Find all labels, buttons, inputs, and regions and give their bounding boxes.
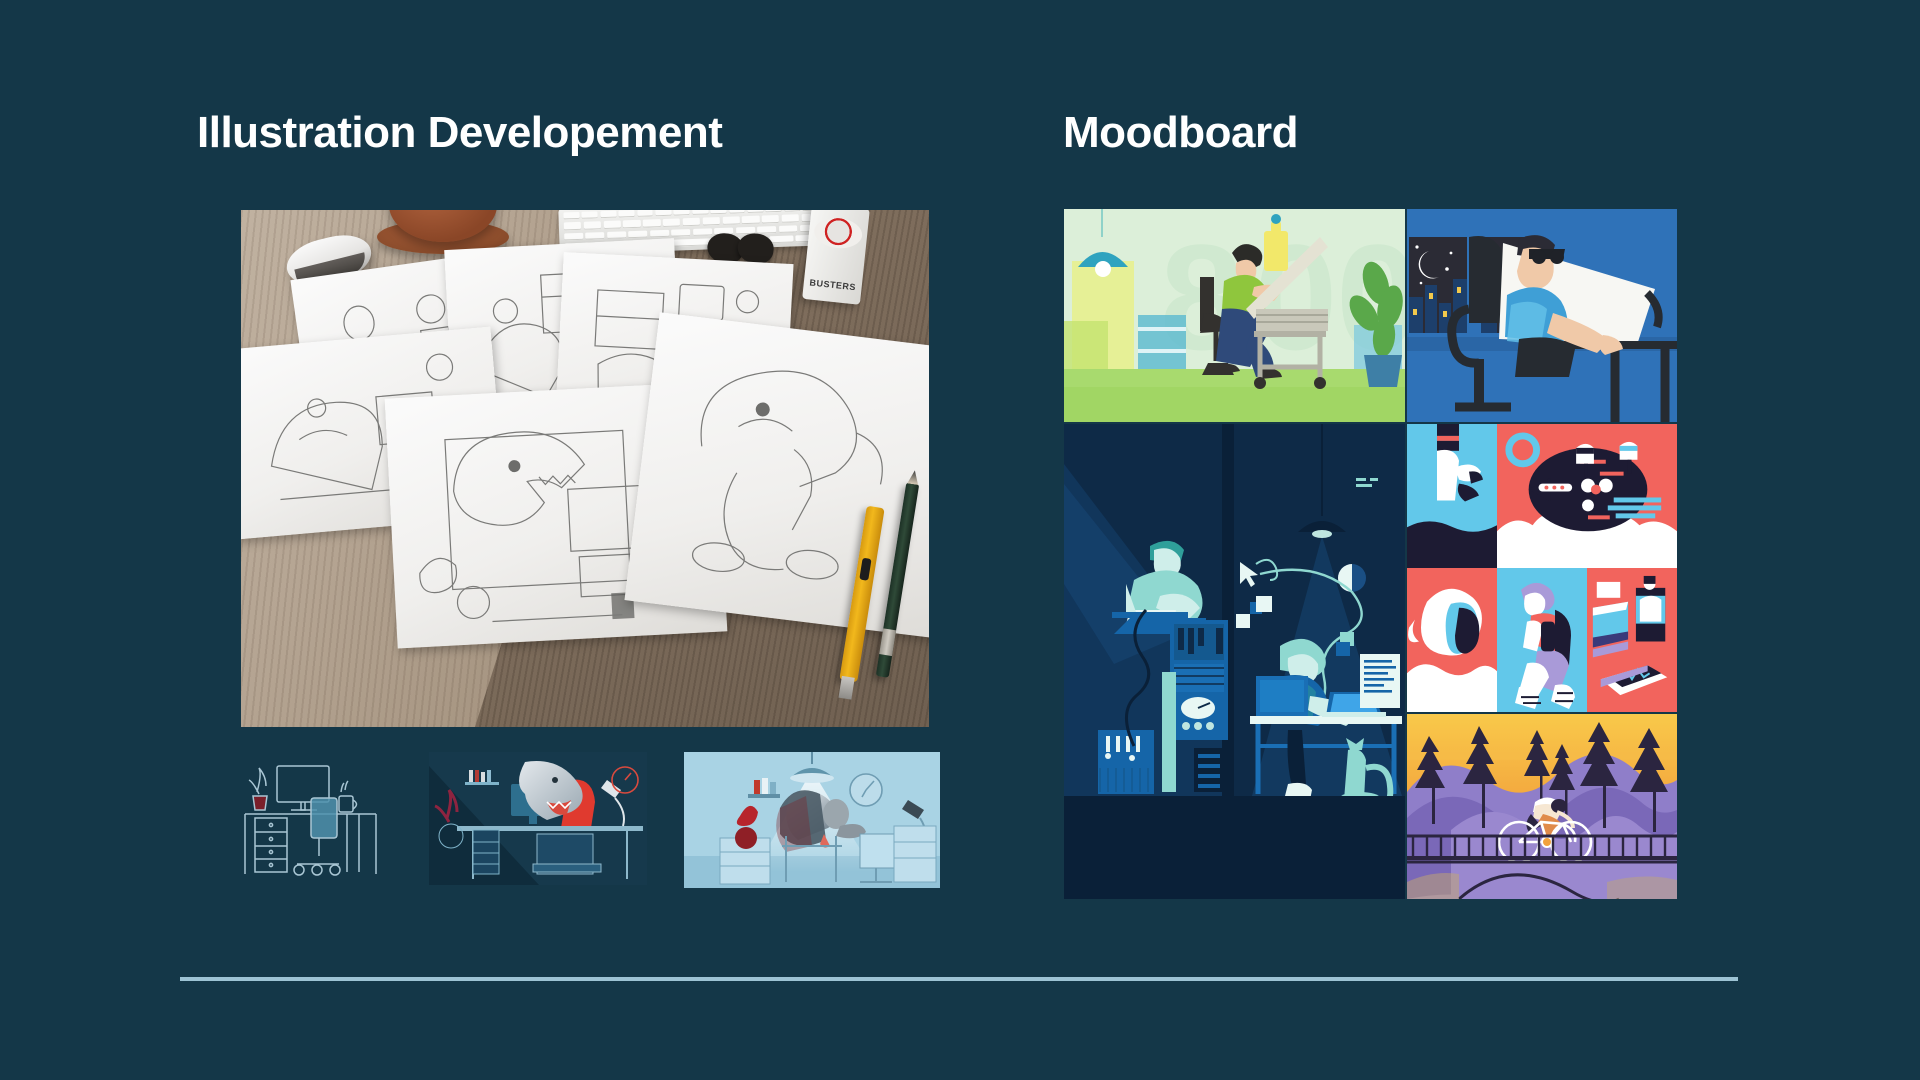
moodboard-cell-green-drafting-desk[interactable]: 800	[1063, 208, 1406, 423]
coral-panel-skater	[1497, 568, 1587, 712]
slide-canvas: Illustration Developement Moodboard	[0, 0, 1920, 1080]
moodboard-cell-purple-cyclist[interactable]	[1406, 713, 1678, 900]
coral-panel-diver	[1407, 424, 1497, 568]
thumbnail-line-art-desk[interactable]	[241, 752, 380, 882]
sketch-photo[interactable]: BUSTERS	[241, 210, 929, 727]
page-title-moodboard: Moodboard	[1063, 108, 1298, 158]
coral-panel-hair	[1407, 568, 1497, 712]
coral-panel-workstation	[1587, 568, 1677, 712]
moodboard-cell-blue-night-desk[interactable]	[1406, 208, 1678, 423]
soda-can: BUSTERS	[802, 210, 870, 305]
coral-panel-aerial	[1497, 424, 1677, 568]
moodboard-cell-coral-cyan-grid[interactable]	[1406, 423, 1678, 713]
bottom-divider	[180, 977, 1738, 981]
sketch-photo-content: BUSTERS	[241, 210, 929, 727]
moodboard-cell-dark-blue-workshop[interactable]	[1063, 423, 1406, 900]
sketch-paper-character	[624, 312, 929, 638]
thumbnail-shark-light-scene[interactable]	[684, 752, 940, 888]
moodboard-grid: 800	[1063, 208, 1678, 900]
thumbnail-shark-dark-scene[interactable]	[429, 752, 647, 885]
thumbnail-row	[241, 752, 940, 888]
page-title-illustration: Illustration Developement	[197, 108, 722, 158]
can-label: BUSTERS	[803, 277, 862, 293]
